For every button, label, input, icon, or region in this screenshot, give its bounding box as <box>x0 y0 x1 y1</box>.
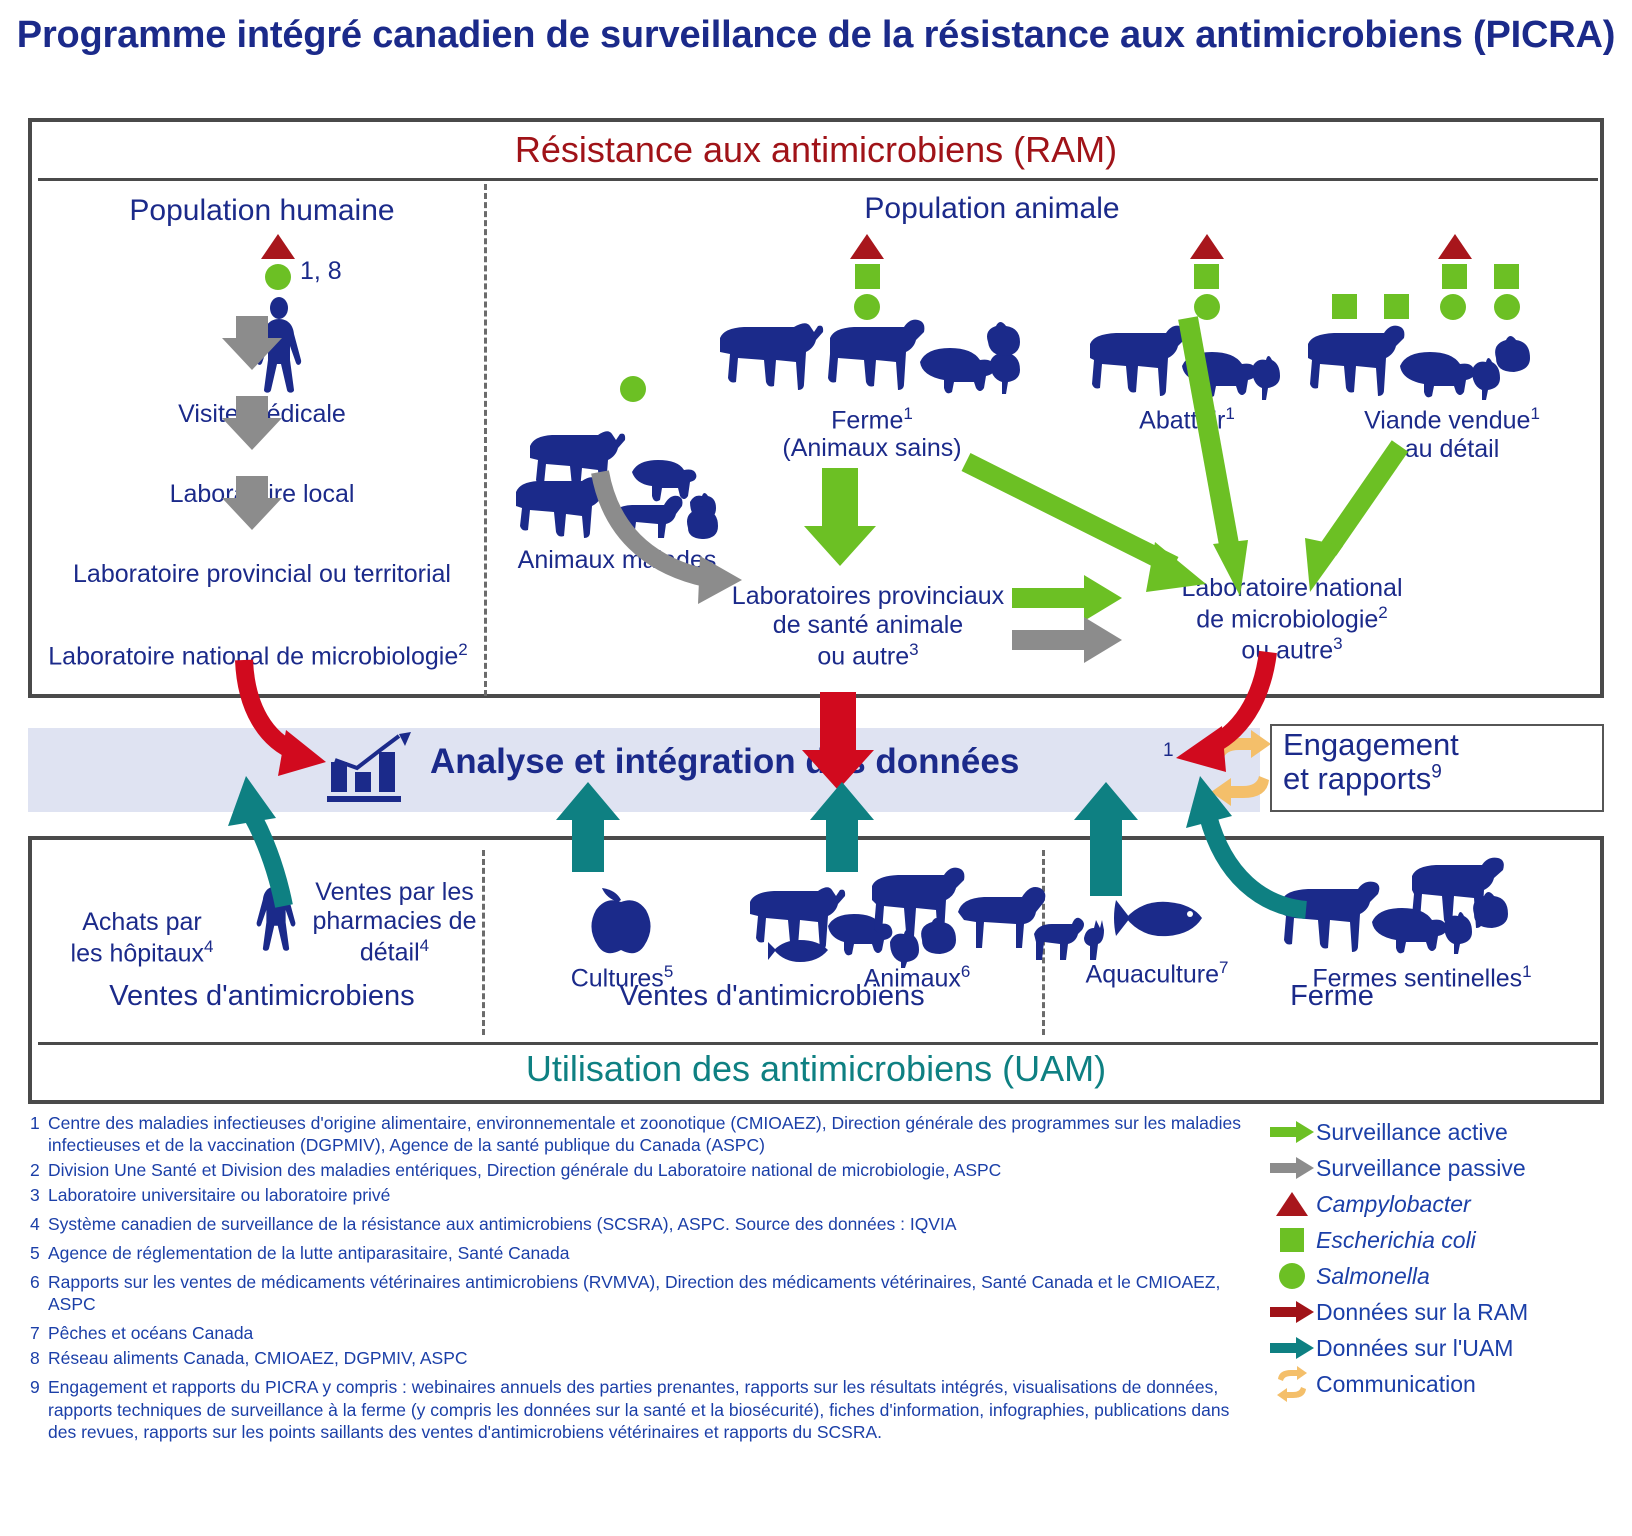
legend-row: Campylobacter <box>1268 1186 1618 1222</box>
divider <box>38 1042 1598 1045</box>
footnote-item: 6Rapports sur les ventes de médicaments … <box>30 1271 1245 1315</box>
footnote-item: 9Engagement et rapports du PICRA y compr… <box>30 1376 1245 1442</box>
triangle-red-icon <box>1438 234 1472 259</box>
footnote-number: 2 <box>30 1159 40 1181</box>
communication-cycle-icon <box>1205 730 1277 806</box>
national-microbiology-lab-label: Laboratoire national de microbiologie2 o… <box>1132 574 1452 666</box>
hospital-purchases-label: Achats par les hôpitaux4 <box>42 908 242 968</box>
farm-animals-icon <box>712 312 1024 400</box>
footnote-ref: 7 <box>1219 958 1228 977</box>
retail-pharmacy-line3: détail <box>360 938 420 966</box>
footnote-ref: 3 <box>1333 634 1342 653</box>
triangle-red-icon <box>261 234 295 259</box>
sentinel-farm-animals-icon <box>1272 860 1532 960</box>
apple-icon <box>588 886 654 958</box>
retail-meat-label: Viande vendue1 au détail <box>1322 404 1582 464</box>
farm-sublabel: (Animaux sains) <box>732 434 1012 463</box>
arrow-gray-icon <box>1268 1153 1316 1183</box>
footnote-item: 1Centre des maladies infectieuses d'orig… <box>30 1112 1245 1156</box>
amu-group-title-human: Ventes d'antimicrobiens <box>52 980 472 1013</box>
amu-group-title-agri: Ventes d'antimicrobiens <box>512 980 1032 1013</box>
amu-section-title: Utilisation des antimicrobiens (UAM) <box>32 1048 1600 1090</box>
provincial-animal-lab-label: Laboratoires provinciaux de santé animal… <box>708 582 1028 671</box>
arrow-darkred-icon <box>1268 1297 1316 1327</box>
square-green-icon <box>1494 264 1519 289</box>
footnote-ref: 2 <box>458 640 467 659</box>
footnote-ref: 6 <box>961 962 970 981</box>
farm-label-text: Ferme <box>831 406 903 434</box>
legend-label: Données sur l'UAM <box>1316 1335 1513 1362</box>
circle-green-icon <box>265 264 291 290</box>
amr-section-title: Résistance aux antimicrobiens (RAM) <box>32 130 1600 170</box>
human-figure-icon <box>244 298 314 394</box>
circle-green-icon <box>1268 1261 1316 1291</box>
footnote-text: Système canadien de surveillance de la r… <box>48 1214 957 1234</box>
footnote-ref: 4 <box>420 936 429 955</box>
human-population-title: Population humaine <box>92 194 432 228</box>
sick-animals-group-icon <box>512 410 732 540</box>
footnote-number: 9 <box>30 1376 40 1398</box>
retail-pharmacy-sales-label: Ventes par les pharmacies de détail4 <box>302 878 487 967</box>
footnote-ref: 4 <box>204 937 213 956</box>
human-figure-icon <box>245 868 307 952</box>
provincial-lab-line3: ou autre <box>817 642 909 670</box>
sick-animals-label: Animaux malades <box>502 546 732 575</box>
circle-green-icon <box>620 376 646 402</box>
footnote-text: Engagement et rapports du PICRA y compri… <box>48 1377 1229 1441</box>
bar-chart-trend-icon <box>325 730 417 806</box>
footnote-text: Agence de réglementation de la lutte ant… <box>48 1243 569 1263</box>
human-step-4: Laboratoire national de microbiologie2 <box>32 640 484 671</box>
footnote-item: 5Agence de réglementation de la lutte an… <box>30 1242 1245 1264</box>
abattoir-label-text: Abattoir <box>1139 406 1225 434</box>
square-green-icon <box>1384 294 1409 319</box>
amu-animals-group-icon <box>744 872 1104 968</box>
footnote-text: Division Une Santé et Division des malad… <box>48 1160 1001 1180</box>
legend-label: Données sur la RAM <box>1316 1299 1528 1326</box>
legend-label: Surveillance passive <box>1316 1155 1526 1182</box>
retail-meat-label-line2: au détail <box>1405 435 1500 463</box>
provincial-lab-line1: Laboratoires provinciaux <box>732 582 1004 610</box>
triangle-red-icon <box>1268 1189 1316 1219</box>
footnote-ref: 9 <box>1431 762 1442 783</box>
divider <box>38 178 1598 181</box>
footnote-item: 4Système canadien de surveillance de la … <box>30 1213 1245 1235</box>
amu-section: Utilisation des antimicrobiens (UAM) Ach… <box>28 836 1604 1104</box>
legend-row: Données sur la RAM <box>1268 1294 1618 1330</box>
legend-row: Surveillance passive <box>1268 1150 1618 1186</box>
national-lab-line3: ou autre <box>1241 637 1333 665</box>
footnote-ref: 1 <box>1530 404 1539 423</box>
abattoir-label: Abattoir1 <box>1067 404 1307 435</box>
footnote-number: 3 <box>30 1184 40 1206</box>
footnote-text: Laboratoire universitaire ou laboratoire… <box>48 1185 390 1205</box>
farm-label: Ferme1 <box>732 404 1012 435</box>
data-analysis-label: Analyse et intégration des données <box>430 742 1019 782</box>
circle-green-icon <box>1494 294 1520 320</box>
footnote-number: 6 <box>30 1271 40 1293</box>
legend-label: Escherichia coli <box>1316 1227 1476 1254</box>
footnotes-list: 1Centre des maladies infectieuses d'orig… <box>30 1112 1245 1446</box>
circle-green-icon <box>1194 294 1220 320</box>
footnote-number: 4 <box>30 1213 40 1235</box>
square-green-icon <box>1442 264 1467 289</box>
engagement-line2: et rapports <box>1283 761 1431 796</box>
footnote-text: Rapports sur les ventes de médicaments v… <box>48 1272 1220 1314</box>
communication-cycle-icon <box>1268 1369 1316 1399</box>
footnote-item: 8Réseau aliments Canada, CMIOAEZ, DGPMIV… <box>30 1347 1245 1369</box>
retail-pharmacy-line1: Ventes par les <box>315 878 473 906</box>
footnote-number: 5 <box>30 1242 40 1264</box>
legend-row: Escherichia coli <box>1268 1222 1618 1258</box>
square-green-icon <box>1194 264 1219 289</box>
arrow-green-icon <box>1268 1117 1316 1147</box>
legend-label: Salmonella <box>1316 1263 1430 1290</box>
circle-green-icon <box>1440 294 1466 320</box>
divider-dashed <box>484 184 487 696</box>
footnote-ref: 1 <box>1225 404 1234 423</box>
footnote-ref: 1 <box>1522 962 1531 981</box>
human-step-1: Visite médicale <box>127 400 397 429</box>
human-marker-note: 1, 8 <box>300 257 390 286</box>
fish-icon <box>1110 892 1206 944</box>
legend-row: Données sur l'UAM <box>1268 1330 1618 1366</box>
abattoir-animals-icon <box>1082 320 1272 404</box>
legend-label: Communication <box>1316 1371 1476 1398</box>
footnote-number: 1 <box>30 1112 40 1134</box>
legend-row: Surveillance active <box>1268 1114 1618 1150</box>
amu-group-title-farm: Ferme <box>1072 980 1592 1013</box>
legend: Surveillance active Surveillance passive… <box>1268 1114 1618 1402</box>
footnote-ref: 1 <box>903 404 912 423</box>
human-step-3: Laboratoire provincial ou territorial <box>47 560 477 589</box>
engagement-reports-label: Engagement et rapports9 <box>1283 728 1459 796</box>
human-step-2: Laboratoire local <box>127 480 397 509</box>
footnote-number: 8 <box>30 1347 40 1369</box>
legend-row: Salmonella <box>1268 1258 1618 1294</box>
provincial-lab-line2: de santé animale <box>773 611 963 639</box>
footnote-text: Centre des maladies infectieuses d'origi… <box>48 1113 1241 1155</box>
footnote-item: 7Pêches et océans Canada <box>30 1322 1245 1344</box>
hospital-purchases-line1: Achats par <box>82 908 202 936</box>
square-green-icon <box>1332 294 1357 319</box>
square-green-icon <box>1268 1225 1316 1255</box>
legend-row: Communication <box>1268 1366 1618 1402</box>
animal-population-title: Population animale <box>792 192 1192 226</box>
square-green-icon <box>855 264 880 289</box>
footnote-number: 7 <box>30 1322 40 1344</box>
footnote-item: 2Division Une Santé et Division des mala… <box>30 1159 1245 1181</box>
national-lab-line2: de microbiologie <box>1196 605 1378 633</box>
footnote-ref: 2 <box>1378 603 1387 622</box>
retail-meat-label-line1: Viande vendue <box>1364 406 1530 434</box>
retail-pharmacy-line2: pharmacies de <box>313 907 477 935</box>
footnote-text: Pêches et océans Canada <box>48 1323 253 1343</box>
footnote-ref: 5 <box>664 962 673 981</box>
amr-section: Résistance aux antimicrobiens (RAM) Popu… <box>28 118 1604 698</box>
human-step-4-label: Laboratoire national de microbiologie <box>48 642 458 670</box>
footnote-ref: 3 <box>909 640 918 659</box>
footnote-ref: 1 <box>1163 740 1174 762</box>
page-title: Programme intégré canadien de surveillan… <box>0 12 1632 58</box>
footnote-item: 3Laboratoire universitaire ou laboratoir… <box>30 1184 1245 1206</box>
footnote-text: Réseau aliments Canada, CMIOAEZ, DGPMIV,… <box>48 1348 468 1368</box>
engagement-line1: Engagement <box>1283 727 1459 762</box>
legend-label: Surveillance active <box>1316 1119 1508 1146</box>
national-lab-line1: Laboratoire national <box>1182 574 1403 602</box>
hospital-purchases-line2: les hôpitaux <box>71 939 204 967</box>
arrow-teal-icon <box>1268 1333 1316 1363</box>
triangle-red-icon <box>850 234 884 259</box>
legend-label: Campylobacter <box>1316 1191 1471 1218</box>
triangle-red-icon <box>1190 234 1224 259</box>
retail-meat-animals-icon <box>1300 320 1530 404</box>
